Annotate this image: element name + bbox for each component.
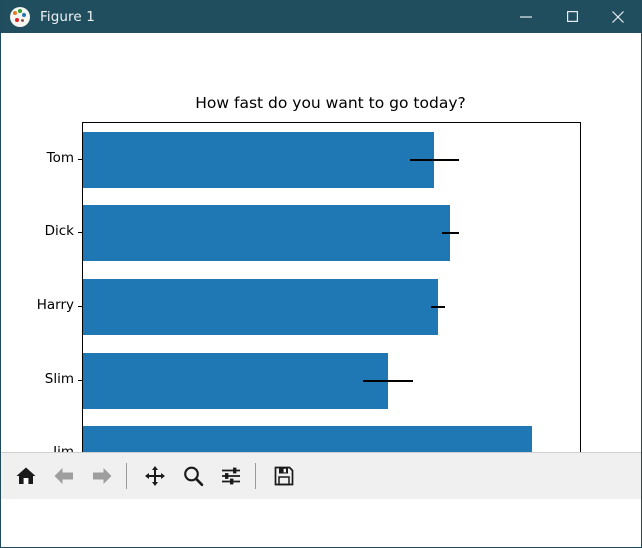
bar-harry	[83, 279, 438, 335]
toolbar-separator-2	[255, 463, 256, 489]
plot-area	[83, 123, 580, 491]
y-tick-label: Dick	[4, 223, 74, 239]
figure-canvas[interactable]: How fast do you want to go today? JimSli…	[1, 33, 641, 499]
bar-dick	[83, 205, 450, 261]
navigation-toolbar	[1, 452, 641, 499]
close-button[interactable]	[595, 0, 641, 33]
plot-axes	[82, 122, 581, 492]
minimize-button[interactable]	[503, 0, 549, 33]
pan-icon[interactable]	[138, 459, 172, 493]
title-bar: Figure 1	[1, 0, 641, 33]
window-title: Figure 1	[40, 9, 95, 25]
back-arrow-icon[interactable]	[47, 459, 81, 493]
bar-slim	[83, 353, 388, 409]
forward-arrow-icon[interactable]	[85, 459, 119, 493]
error-bar-slim	[363, 380, 413, 382]
error-bar-harry	[431, 306, 445, 308]
chart-title: How fast do you want to go today?	[82, 94, 579, 112]
y-tick-mark	[78, 159, 82, 160]
y-tick-label: Tom	[4, 150, 74, 166]
y-tick-label: Slim	[4, 371, 74, 387]
y-tick-mark	[78, 232, 82, 233]
y-tick-label: Harry	[4, 297, 74, 313]
zoom-icon[interactable]	[176, 459, 210, 493]
error-bar-tom	[410, 159, 460, 161]
error-bar-dick	[442, 232, 460, 234]
matplotlib-logo-icon	[10, 7, 30, 27]
subplot-config-icon[interactable]	[214, 459, 248, 493]
save-icon[interactable]	[267, 459, 301, 493]
y-tick-mark	[78, 306, 82, 307]
y-tick-mark	[78, 380, 82, 381]
toolbar-separator	[126, 463, 127, 489]
home-icon[interactable]	[9, 459, 43, 493]
bar-tom	[83, 132, 434, 188]
figure-window: Figure 1 How fast do you want to go toda…	[0, 0, 642, 548]
maximize-button[interactable]	[549, 0, 595, 33]
window-controls	[503, 0, 641, 33]
